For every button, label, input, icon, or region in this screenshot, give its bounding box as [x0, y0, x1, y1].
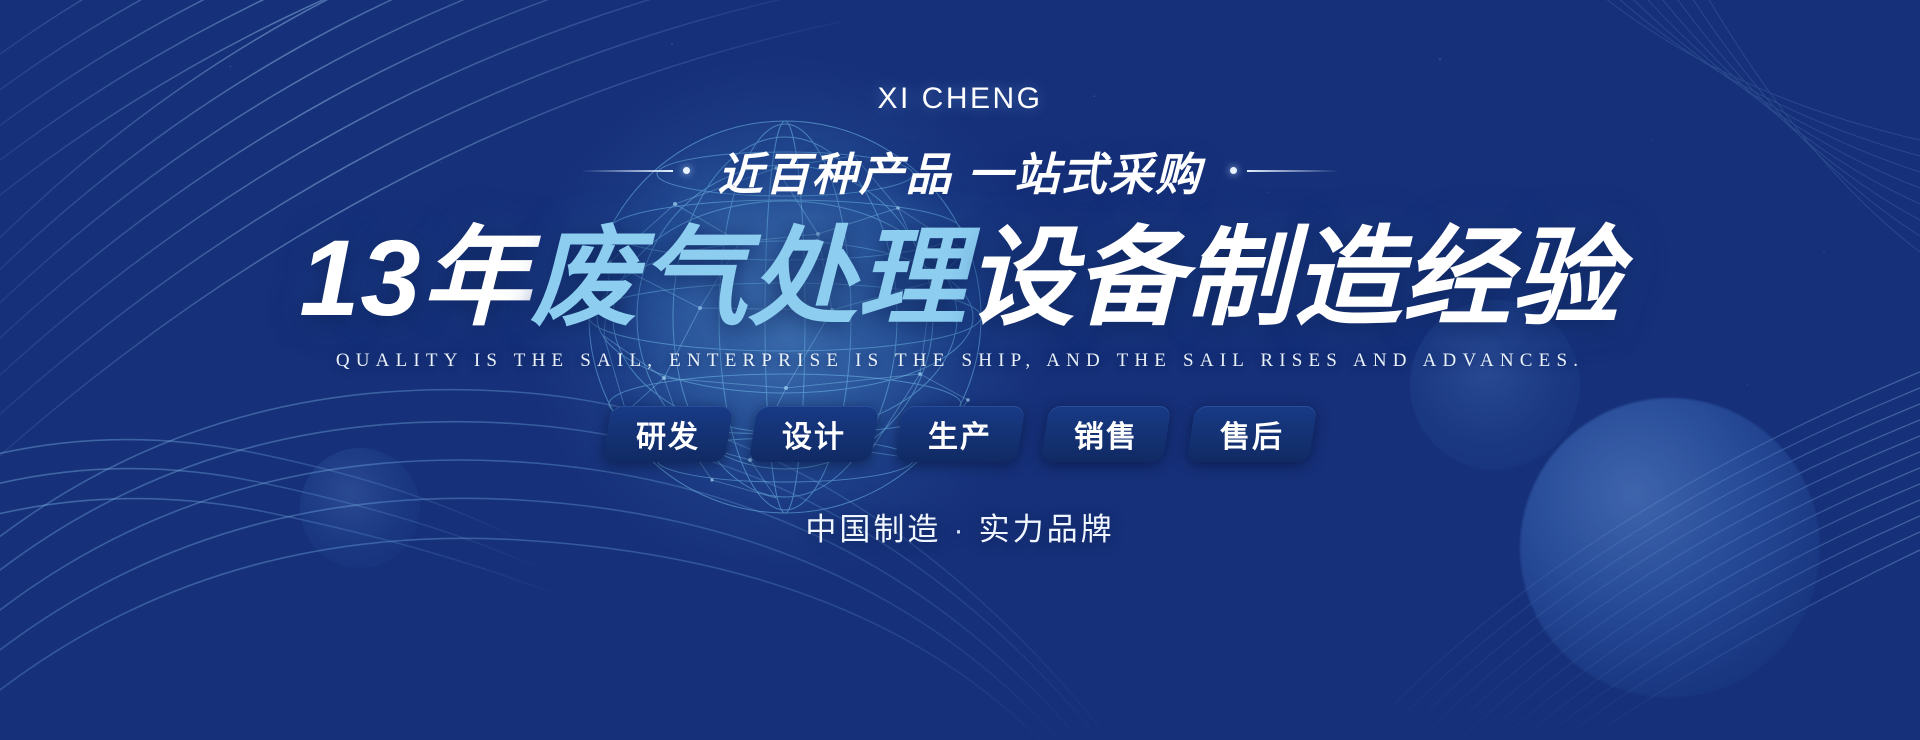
- headline-part-highlight: 废气处理: [531, 217, 967, 338]
- service-pill-label: 研发: [636, 412, 700, 456]
- service-pill-design[interactable]: 设计: [749, 406, 880, 462]
- service-pill-production[interactable]: 生产: [895, 406, 1026, 462]
- decorative-line-right: [1230, 167, 1339, 174]
- footer-slogan-right: 实力品牌: [979, 512, 1115, 547]
- subline-text: 近百种产品 一站式采购: [718, 138, 1203, 203]
- service-pill-label: 生产: [928, 412, 992, 456]
- hero-banner: XI CHENG 近百种产品 一站式采购 13年废气处理设备制造经验 QUALI…: [0, 0, 1920, 740]
- footer-separator-dot: ·: [941, 512, 978, 547]
- brand-english-name: XI CHENG: [877, 82, 1042, 116]
- headline-part-years: 13年: [299, 217, 530, 338]
- service-pill-aftersales[interactable]: 售后: [1187, 406, 1318, 462]
- decorative-dot-right: [1230, 167, 1237, 174]
- service-pill-label: 设计: [782, 412, 846, 456]
- decorative-line-left: [581, 167, 690, 174]
- footer-slogan-left: 中国制造: [805, 512, 941, 547]
- service-pill-rd[interactable]: 研发: [603, 406, 734, 462]
- english-tagline: QUALITY IS THE SAIL, ENTERPRISE IS THE S…: [336, 350, 1584, 372]
- service-pill-group: 研发 设计 生产 销售 售后: [607, 406, 1313, 462]
- decorative-dot-left: [683, 167, 690, 174]
- service-pill-label: 销售: [1074, 412, 1138, 456]
- service-pill-sales[interactable]: 销售: [1041, 406, 1172, 462]
- headline-part-rest: 设备制造经验: [967, 217, 1621, 338]
- subline-row: 近百种产品 一站式采购: [581, 138, 1340, 203]
- service-pill-label: 售后: [1220, 412, 1284, 456]
- headline: 13年废气处理设备制造经验: [299, 215, 1620, 340]
- banner-content: XI CHENG 近百种产品 一站式采购 13年废气处理设备制造经验 QUALI…: [0, 0, 1920, 740]
- footer-slogan: 中国制造·实力品牌: [805, 504, 1114, 549]
